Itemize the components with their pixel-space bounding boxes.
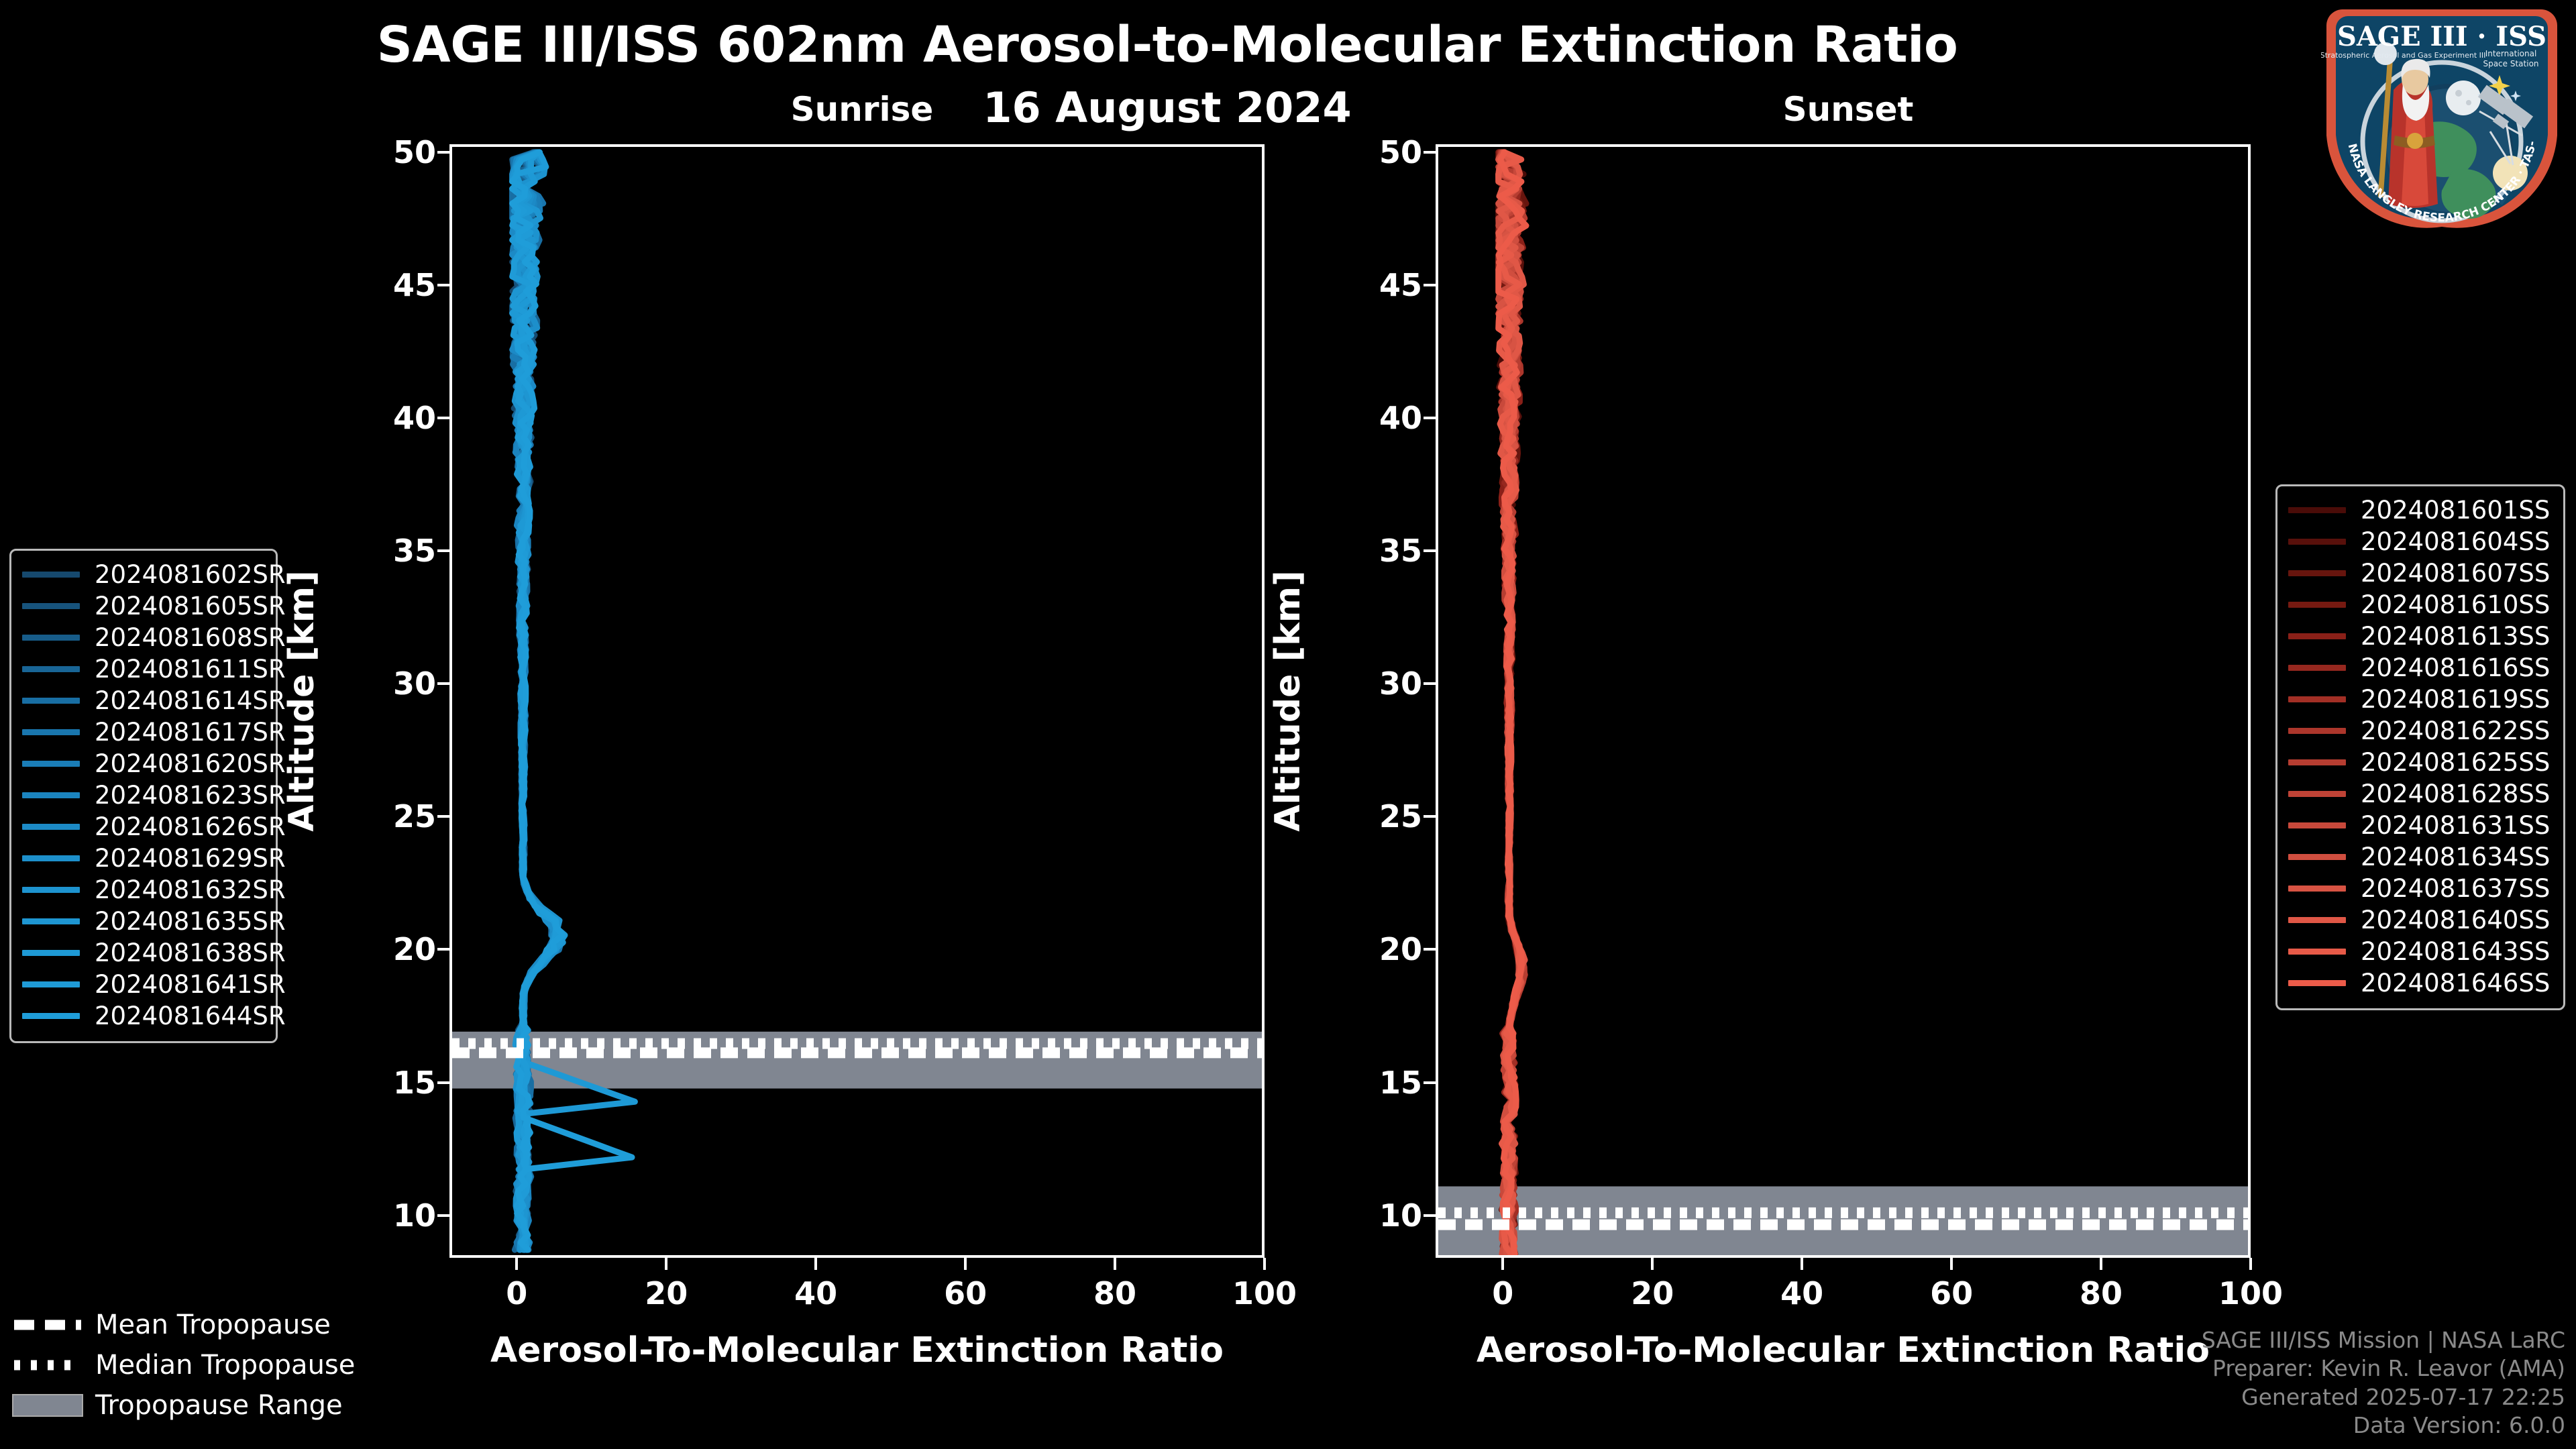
legend-series-label: 2024081623SR bbox=[95, 781, 286, 810]
x-axis-tick-label: 20 bbox=[1599, 1275, 1706, 1311]
credits-line: Generated 2025-07-17 22:25 bbox=[2202, 1383, 2565, 1411]
credits-line: SAGE III/ISS Mission | NASA LaRC bbox=[2202, 1326, 2565, 1354]
profile-chart-sunset bbox=[1438, 147, 2248, 1255]
legend-item[interactable]: 2024081631SS bbox=[2288, 810, 2550, 841]
legend-series-label: 2024081632SR bbox=[95, 875, 286, 904]
legend-color-swatch bbox=[2288, 570, 2346, 576]
x-axis-tick-mark bbox=[2249, 1258, 2252, 1270]
x-axis-tick-mark bbox=[1263, 1258, 1266, 1270]
x-axis-tick-mark bbox=[665, 1258, 667, 1270]
y-axis-tick-mark bbox=[1424, 682, 1436, 685]
y-axis-tick-label: 40 bbox=[1342, 400, 1422, 436]
logo-title: SAGE III · ISS bbox=[2337, 21, 2546, 52]
legend-sunrise[interactable]: 2024081602SR2024081605SR2024081608SR2024… bbox=[9, 549, 278, 1043]
legend-series-label: 2024081634SS bbox=[2361, 843, 2550, 871]
legend-series-label: 2024081641SR bbox=[95, 970, 286, 999]
legend-series-label: 2024081631SS bbox=[2361, 811, 2550, 840]
legend-color-swatch bbox=[22, 918, 80, 924]
legend-item[interactable]: 2024081605SR bbox=[22, 590, 262, 622]
legend-color-swatch bbox=[2288, 507, 2346, 513]
legend-color-swatch bbox=[2288, 696, 2346, 702]
tropopause-legend-key-gray-patch bbox=[12, 1394, 83, 1417]
y-axis-tick-label: 25 bbox=[356, 798, 436, 835]
legend-color-swatch bbox=[22, 1013, 80, 1019]
y-axis-tick-label: 45 bbox=[1342, 267, 1422, 303]
legend-item[interactable]: 2024081635SR bbox=[22, 906, 262, 937]
y-axis-tick-label: 35 bbox=[356, 533, 436, 569]
legend-item[interactable]: 2024081634SS bbox=[2288, 841, 2550, 873]
y-axis-tick-label: 15 bbox=[1342, 1065, 1422, 1101]
legend-item[interactable]: 2024081638SR bbox=[22, 937, 262, 969]
y-axis-tick-label: 50 bbox=[1342, 134, 1422, 170]
legend-item[interactable]: 2024081604SS bbox=[2288, 526, 2550, 557]
legend-color-swatch bbox=[22, 729, 80, 735]
legend-color-swatch bbox=[22, 666, 80, 672]
legend-item[interactable]: 2024081614SR bbox=[22, 685, 262, 716]
x-axis-tick-mark bbox=[515, 1258, 518, 1270]
legend-color-swatch bbox=[2288, 949, 2346, 955]
legend-item[interactable]: 2024081620SR bbox=[22, 748, 262, 780]
x-axis-tick-label: 100 bbox=[2197, 1275, 2304, 1311]
y-axis-tick-mark bbox=[1424, 1081, 1436, 1084]
legend-series-label: 2024081622SS bbox=[2361, 716, 2550, 745]
x-axis-tick-mark bbox=[1801, 1258, 1803, 1270]
plot-inner-sunrise bbox=[452, 147, 1262, 1255]
legend-item[interactable]: 2024081613SS bbox=[2288, 621, 2550, 652]
y-axis-tick-label: 20 bbox=[1342, 931, 1422, 967]
legend-color-swatch bbox=[22, 887, 80, 893]
legend-series-label: 2024081601SS bbox=[2361, 496, 2550, 525]
legend-color-swatch bbox=[2288, 917, 2346, 923]
legend-color-swatch bbox=[2288, 822, 2346, 828]
x-axis-tick-label: 60 bbox=[912, 1275, 1019, 1311]
logo-subtitle-right-line1: International bbox=[2485, 49, 2537, 58]
y-axis-tick-label: 40 bbox=[356, 400, 436, 436]
y-axis-tick-mark bbox=[437, 151, 449, 154]
legend-color-swatch bbox=[2288, 539, 2346, 545]
x-axis-tick-label: 40 bbox=[1748, 1275, 1856, 1311]
legend-item[interactable]: 2024081641SR bbox=[22, 969, 262, 1000]
tropopause-legend-label: Median Tropopause bbox=[95, 1350, 355, 1381]
legend-color-swatch bbox=[22, 603, 80, 609]
legend-item[interactable]: 2024081601SS bbox=[2288, 494, 2550, 526]
legend-color-swatch bbox=[22, 792, 80, 798]
x-axis-tick-label: 80 bbox=[2047, 1275, 2155, 1311]
tropopause-legend: Mean TropopauseMedian TropopauseTropopau… bbox=[12, 1305, 388, 1426]
legend-item[interactable]: 2024081626SR bbox=[22, 811, 262, 843]
legend-color-swatch bbox=[2288, 854, 2346, 860]
legend-series-label: 2024081638SR bbox=[95, 938, 286, 967]
x-axis-tick-mark bbox=[1950, 1258, 1953, 1270]
legend-color-swatch bbox=[22, 635, 80, 641]
legend-item[interactable]: 2024081607SS bbox=[2288, 557, 2550, 589]
legend-item[interactable]: 2024081628SS bbox=[2288, 778, 2550, 810]
legend-color-swatch bbox=[22, 698, 80, 704]
tropopause-legend-item: Mean Tropopause bbox=[12, 1305, 388, 1345]
y-axis-tick-label: 10 bbox=[356, 1197, 436, 1234]
legend-series-label: 2024081643SS bbox=[2361, 937, 2550, 966]
y-axis-tick-mark bbox=[437, 815, 449, 818]
x-axis-tick-label: 20 bbox=[612, 1275, 720, 1311]
legend-color-swatch bbox=[22, 950, 80, 956]
legend-item[interactable]: 2024081608SR bbox=[22, 622, 262, 653]
y-axis-title: Altitude [km] bbox=[282, 500, 322, 902]
y-axis-tick-mark bbox=[437, 948, 449, 951]
legend-series-label: 2024081637SS bbox=[2361, 874, 2550, 903]
y-axis-title: Altitude [km] bbox=[1268, 500, 1308, 902]
legend-series-label: 2024081605SR bbox=[95, 592, 286, 621]
legend-series-label: 2024081611SR bbox=[95, 655, 286, 684]
legend-item[interactable]: 2024081617SR bbox=[22, 716, 262, 748]
legend-color-swatch bbox=[2288, 980, 2346, 986]
y-axis-tick-label: 15 bbox=[356, 1065, 436, 1101]
x-axis-tick-label: 0 bbox=[463, 1275, 570, 1311]
y-axis-tick-mark bbox=[437, 284, 449, 286]
y-axis-tick-mark bbox=[1424, 1214, 1436, 1217]
tropopause-legend-item: Median Tropopause bbox=[12, 1345, 388, 1385]
legend-series-label: 2024081610SS bbox=[2361, 590, 2550, 619]
legend-series-label: 2024081613SS bbox=[2361, 622, 2550, 651]
y-axis-tick-label: 25 bbox=[1342, 798, 1422, 835]
credits-line: Preparer: Kevin R. Leavor (AMA) bbox=[2202, 1354, 2565, 1383]
x-axis-tick-label: 40 bbox=[762, 1275, 869, 1311]
legend-item[interactable]: 2024081640SS bbox=[2288, 904, 2550, 936]
legend-color-swatch bbox=[2288, 791, 2346, 797]
tropopause-legend-key-dotted-line bbox=[12, 1356, 83, 1374]
legend-series-label: 2024081640SS bbox=[2361, 906, 2550, 934]
panel-title-sunrise: Sunrise bbox=[728, 90, 996, 129]
legend-series-label: 2024081620SR bbox=[95, 749, 286, 778]
x-axis-tick-label: 60 bbox=[1898, 1275, 2005, 1311]
x-axis-tick-mark bbox=[964, 1258, 967, 1270]
legend-item[interactable]: 2024081610SS bbox=[2288, 589, 2550, 621]
legend-item[interactable]: 2024081616SS bbox=[2288, 652, 2550, 684]
y-axis-tick-label: 20 bbox=[356, 931, 436, 967]
x-axis-tick-label: 80 bbox=[1061, 1275, 1169, 1311]
x-axis-tick-mark bbox=[1651, 1258, 1654, 1270]
tropopause-legend-label: Tropopause Range bbox=[95, 1390, 343, 1421]
legend-item[interactable]: 2024081623SR bbox=[22, 780, 262, 811]
y-axis-tick-label: 45 bbox=[356, 267, 436, 303]
legend-series-label: 2024081626SR bbox=[95, 812, 286, 841]
profile-chart-sunrise bbox=[452, 147, 1262, 1255]
x-axis-tick-mark bbox=[1114, 1258, 1116, 1270]
tropopause-legend-item: Tropopause Range bbox=[12, 1385, 388, 1426]
plot-inner-sunset bbox=[1438, 147, 2248, 1255]
legend-item[interactable]: 2024081611SR bbox=[22, 653, 262, 685]
legend-item[interactable]: 2024081637SS bbox=[2288, 873, 2550, 904]
legend-color-swatch bbox=[2288, 759, 2346, 765]
y-axis-tick-mark bbox=[1424, 948, 1436, 951]
legend-color-swatch bbox=[2288, 602, 2346, 608]
legend-series-label: 2024081614SR bbox=[95, 686, 286, 715]
legend-item[interactable]: 2024081619SS bbox=[2288, 684, 2550, 715]
page-subtitle-date: 16 August 2024 bbox=[0, 83, 2334, 132]
y-axis-tick-mark bbox=[1424, 417, 1436, 419]
legend-series-label: 2024081607SS bbox=[2361, 559, 2550, 588]
legend-series-label: 2024081625SS bbox=[2361, 748, 2550, 777]
x-axis-title: Aerosol-To-Molecular Extinction Ratio bbox=[1436, 1330, 2251, 1371]
legend-series-label: 2024081602SR bbox=[95, 560, 286, 589]
legend-sunset[interactable]: 2024081601SS2024081604SS2024081607SS2024… bbox=[2275, 484, 2565, 1010]
legend-series-label: 2024081608SR bbox=[95, 623, 286, 652]
legend-series-label: 2024081604SS bbox=[2361, 527, 2550, 556]
logo-subtitle-left: Stratospheric Aerosol and Gas Experiment… bbox=[2321, 51, 2485, 60]
legend-item[interactable]: 2024081602SR bbox=[22, 559, 262, 590]
y-axis-tick-mark bbox=[1424, 284, 1436, 286]
legend-color-swatch bbox=[2288, 665, 2346, 671]
x-axis-tick-mark bbox=[1501, 1258, 1504, 1270]
logo-subtitle-right-line2: Space Station bbox=[2483, 59, 2538, 68]
legend-series-label: 2024081619SS bbox=[2361, 685, 2550, 714]
page-title: SAGE III/ISS 602nm Aerosol-to-Molecular … bbox=[0, 16, 2334, 74]
y-axis-tick-mark bbox=[437, 1214, 449, 1217]
panel-title-sunset: Sunset bbox=[1714, 90, 1982, 129]
legend-series-label: 2024081644SR bbox=[95, 1002, 286, 1030]
legend-color-swatch bbox=[22, 761, 80, 767]
credits-line: Data Version: 6.0.0 bbox=[2202, 1411, 2565, 1440]
y-axis-tick-mark bbox=[1424, 549, 1436, 552]
x-axis-tick-mark bbox=[814, 1258, 817, 1270]
y-axis-tick-label: 50 bbox=[356, 134, 436, 170]
legend-series-label: 2024081646SS bbox=[2361, 969, 2550, 998]
sage-iii-iss-mission-patch-logo: SAGE III · ISS Stratospheric Aerosol and… bbox=[2321, 4, 2563, 229]
y-axis-tick-mark bbox=[437, 417, 449, 419]
legend-item[interactable]: 2024081622SS bbox=[2288, 715, 2550, 747]
legend-series-label: 2024081616SS bbox=[2361, 653, 2550, 682]
y-axis-tick-label: 30 bbox=[1342, 665, 1422, 702]
tropopause-legend-label: Mean Tropopause bbox=[95, 1309, 331, 1340]
legend-item[interactable]: 2024081625SS bbox=[2288, 747, 2550, 778]
legend-color-swatch bbox=[2288, 728, 2346, 734]
credits-block: SAGE III/ISS Mission | NASA LaRCPreparer… bbox=[2202, 1326, 2565, 1440]
plot-area-sunset bbox=[1436, 144, 2251, 1258]
y-axis-tick-mark bbox=[1424, 151, 1436, 154]
legend-color-swatch bbox=[2288, 885, 2346, 892]
y-axis-tick-label: 35 bbox=[1342, 533, 1422, 569]
y-axis-tick-mark bbox=[1424, 815, 1436, 818]
legend-item[interactable]: 2024081632SR bbox=[22, 874, 262, 906]
y-axis-tick-mark bbox=[437, 549, 449, 552]
y-axis-tick-label: 10 bbox=[1342, 1197, 1422, 1234]
y-axis-tick-label: 30 bbox=[356, 665, 436, 702]
legend-color-swatch bbox=[22, 572, 80, 578]
y-axis-tick-mark bbox=[437, 682, 449, 685]
tropopause-legend-key-dashed-line bbox=[12, 1316, 83, 1334]
y-axis-tick-mark bbox=[437, 1081, 449, 1084]
legend-series-label: 2024081635SR bbox=[95, 907, 286, 936]
legend-series-label: 2024081629SR bbox=[95, 844, 286, 873]
x-axis-tick-label: 0 bbox=[1449, 1275, 1556, 1311]
legend-series-label: 2024081617SR bbox=[95, 718, 286, 747]
legend-item[interactable]: 2024081644SR bbox=[22, 1000, 262, 1032]
legend-color-swatch bbox=[22, 855, 80, 861]
legend-color-swatch bbox=[22, 824, 80, 830]
legend-series-label: 2024081628SS bbox=[2361, 780, 2550, 808]
x-axis-tick-mark bbox=[2100, 1258, 2102, 1270]
plot-area-sunrise bbox=[449, 144, 1265, 1258]
legend-color-swatch bbox=[22, 981, 80, 987]
x-axis-tick-label: 100 bbox=[1211, 1275, 1318, 1311]
x-axis-title: Aerosol-To-Molecular Extinction Ratio bbox=[449, 1330, 1265, 1371]
legend-color-swatch bbox=[2288, 633, 2346, 639]
legend-item[interactable]: 2024081629SR bbox=[22, 843, 262, 874]
legend-item[interactable]: 2024081646SS bbox=[2288, 967, 2550, 999]
legend-item[interactable]: 2024081643SS bbox=[2288, 936, 2550, 967]
